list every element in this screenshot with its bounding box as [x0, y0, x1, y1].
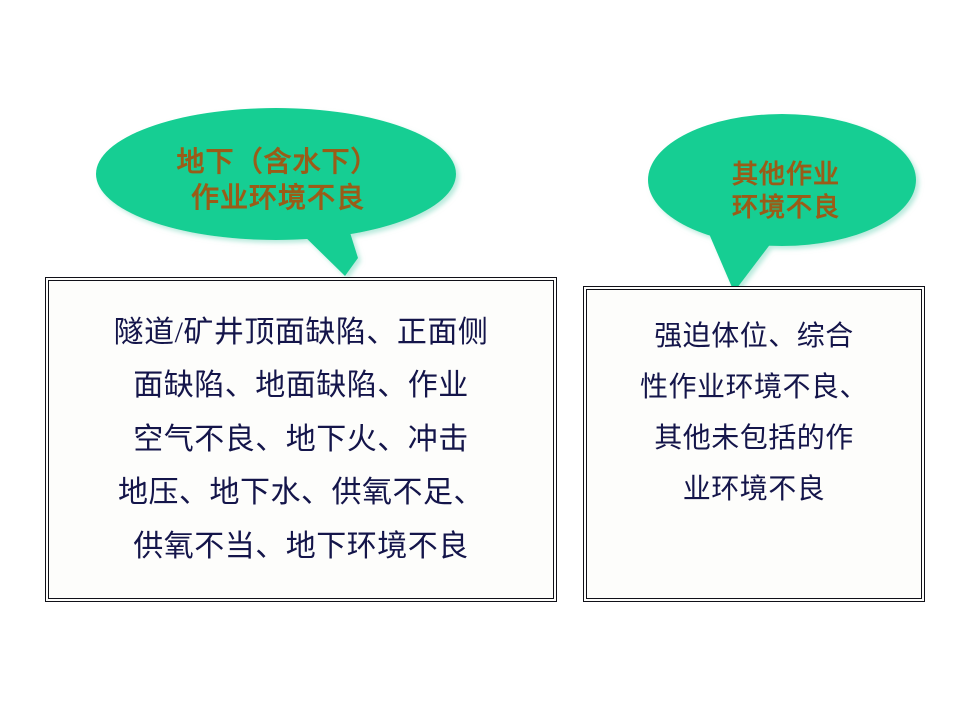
textbox-underground-inner-border: 隧道/矿井顶面缺陷、正面侧 面缺陷、地面缺陷、作业 空气不良、地下火、冲击 地压…	[48, 280, 554, 599]
callout-underground-shape	[96, 108, 460, 284]
textbox-underground-line-2: 面缺陷、地面缺陷、作业	[114, 359, 489, 412]
textbox-other-line-1: 强迫体位、综合	[640, 312, 868, 363]
textbox-other-line-3: 其他未包括的作	[640, 414, 868, 465]
callout-other[interactable]: 其他作业 环境不良	[648, 114, 924, 298]
textbox-other-inner-border: 强迫体位、综合 性作业环境不良、 其他未包括的作 业环境不良	[586, 289, 922, 599]
textbox-other-text: 强迫体位、综合 性作业环境不良、 其他未包括的作 业环境不良	[630, 290, 878, 522]
textbox-underground-line-3: 空气不良、地下火、冲击	[114, 413, 489, 466]
callout-underground[interactable]: 地下（含水下） 作业环境不良	[96, 108, 460, 284]
textbox-underground-line-4: 地压、地下水、供氧不足、	[114, 466, 489, 519]
textbox-underground-line-1: 隧道/矿井顶面缺陷、正面侧	[114, 306, 489, 359]
slide-canvas: 地下（含水下） 作业环境不良 其他作业 环境不良 隧道/矿井顶面缺陷、正面侧	[0, 0, 960, 720]
textbox-other[interactable]: 强迫体位、综合 性作业环境不良、 其他未包括的作 业环境不良	[583, 286, 925, 602]
callout-other-shape	[648, 114, 924, 298]
textbox-underground-text: 隧道/矿井顶面缺陷、正面侧 面缺陷、地面缺陷、作业 空气不良、地下火、冲击 地压…	[104, 300, 499, 579]
textbox-underground[interactable]: 隧道/矿井顶面缺陷、正面侧 面缺陷、地面缺陷、作业 空气不良、地下火、冲击 地压…	[45, 277, 557, 602]
textbox-other-line-2: 性作业环境不良、	[640, 363, 868, 414]
textbox-other-line-4: 业环境不良	[640, 465, 868, 516]
textbox-underground-line-5: 供氧不当、地下环境不良	[114, 520, 489, 573]
